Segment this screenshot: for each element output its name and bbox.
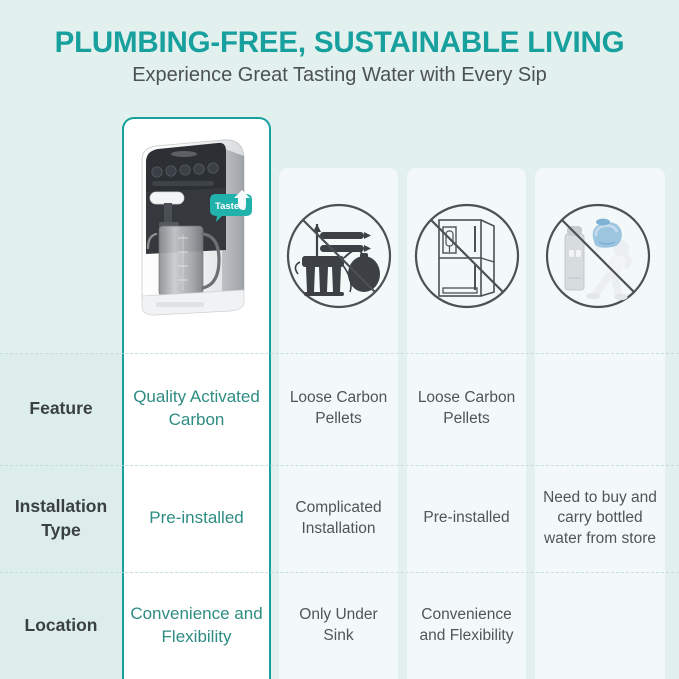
comparison-table: Feature Quality Activated Carbon Loose C… bbox=[0, 353, 679, 679]
column-separator bbox=[530, 353, 531, 465]
column-separator bbox=[530, 465, 531, 572]
row-label-installation-type: Installation Type bbox=[0, 465, 122, 572]
hero-cell-location: Convenience and Flexibility bbox=[124, 572, 269, 679]
hero-cell-installation-type: Pre-installed bbox=[124, 465, 269, 572]
table-row: Feature Quality Activated Carbon Loose C… bbox=[0, 353, 679, 465]
competitor-1-cell-location: Convenience and Flexibility bbox=[407, 572, 526, 679]
competitor-0-cell-location: Only Under Sink bbox=[279, 572, 398, 679]
column-separator bbox=[402, 353, 403, 465]
hero-column-right-border bbox=[269, 572, 271, 679]
competitor-1-cell-installation-type: Pre-installed bbox=[407, 465, 526, 572]
hero-column-right-border bbox=[269, 353, 271, 465]
bottled-water-delivery-prohibited-icon bbox=[543, 200, 653, 312]
hero-column-right-border bbox=[269, 465, 271, 572]
page-title: PLUMBING-FREE, SUSTAINABLE LIVING bbox=[0, 26, 679, 60]
competitor-2-cell-installation-type: Need to buy and carry bottled water from… bbox=[535, 465, 665, 572]
row-separator bbox=[0, 572, 679, 573]
competitor-0-cell-installation-type: Complicated Installation bbox=[279, 465, 398, 572]
row-separator bbox=[0, 353, 679, 354]
competitor-2-cell-location bbox=[535, 572, 665, 679]
svg-text:Taste: Taste bbox=[215, 201, 239, 212]
row-label-feature: Feature bbox=[0, 353, 122, 465]
countertop-water-purifier-photo: Taste bbox=[126, 130, 267, 330]
under-sink-ro-system-prohibited-icon bbox=[284, 200, 394, 312]
page-subtitle: Experience Great Tasting Water with Ever… bbox=[0, 64, 679, 87]
header: PLUMBING-FREE, SUSTAINABLE LIVING Experi… bbox=[0, 0, 679, 110]
column-separator bbox=[665, 572, 666, 679]
column-separator bbox=[665, 353, 666, 465]
row-label-location: Location bbox=[0, 572, 122, 679]
comparison-chart-page: PLUMBING-FREE, SUSTAINABLE LIVING Experi… bbox=[0, 0, 679, 679]
competitor-icon-1 bbox=[412, 200, 522, 312]
competitor-icon-2 bbox=[543, 200, 653, 312]
refrigerator-water-dispenser-prohibited-icon bbox=[412, 200, 522, 312]
column-separator bbox=[530, 572, 531, 679]
competitor-icon-0 bbox=[284, 200, 394, 312]
column-separator bbox=[402, 465, 403, 572]
product-image: Taste bbox=[126, 130, 267, 330]
row-separator bbox=[0, 465, 679, 466]
competitor-2-cell-feature bbox=[535, 353, 665, 465]
table-row: Installation Type Pre-installed Complica… bbox=[0, 465, 679, 572]
column-separator bbox=[402, 572, 403, 679]
competitor-1-cell-feature: Loose Carbon Pellets bbox=[407, 353, 526, 465]
column-separator bbox=[665, 465, 666, 572]
competitor-0-cell-feature: Loose Carbon Pellets bbox=[279, 353, 398, 465]
table-row: Location Convenience and Flexibility Onl… bbox=[0, 572, 679, 679]
hero-cell-feature: Quality Activated Carbon bbox=[124, 353, 269, 465]
